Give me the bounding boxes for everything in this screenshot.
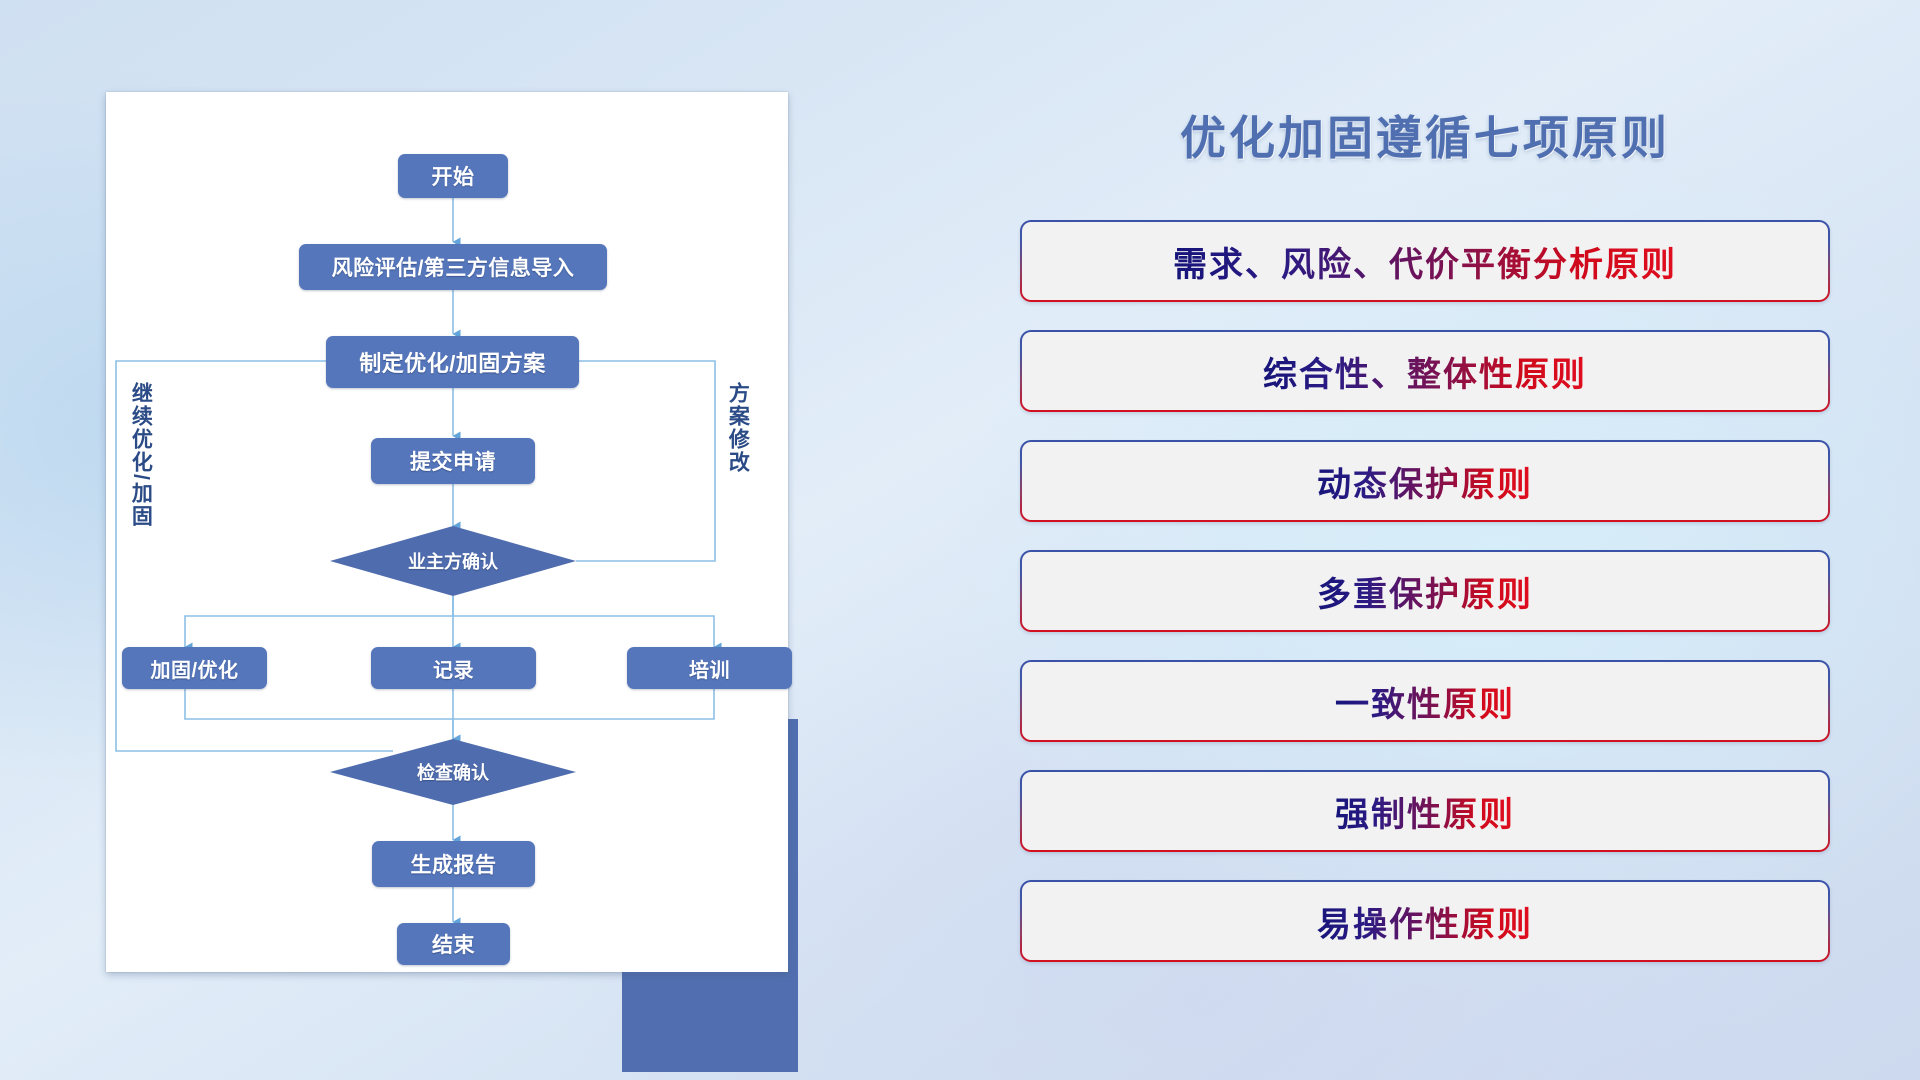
- principles-panel: 优化加固遵循七项原则 需求、风险、代价平衡分析原则 综合性、整体性原则 动态保护…: [1020, 92, 1830, 992]
- principle-label: 综合性、整体性原则: [1263, 347, 1587, 396]
- flowchart-panel: 开始 风险评估/第三方信息导入 制定优化/加固方案 提交申请 业主方确认 加固/…: [106, 92, 788, 972]
- flow-node-record-label: 记录: [433, 654, 474, 683]
- flow-edge-label-continue-optimize: 继续优化/加固: [130, 382, 151, 528]
- flow-edge-label-plan-revision: 方案修改: [727, 382, 748, 474]
- flow-node-end[interactable]: 结束: [397, 923, 510, 965]
- principle-label: 一致性原则: [1335, 677, 1515, 726]
- flow-node-start-label: 开始: [432, 161, 475, 191]
- flow-node-reinforce[interactable]: 加固/优化: [122, 647, 267, 689]
- flow-node-training-label: 培训: [689, 654, 730, 683]
- flow-node-risk-assessment-label: 风险评估/第三方信息导入: [332, 252, 575, 282]
- principles-card-list: 需求、风险、代价平衡分析原则 综合性、整体性原则 动态保护原则 多重保护原则 一…: [1020, 220, 1830, 990]
- flowchart-sheet: 开始 风险评估/第三方信息导入 制定优化/加固方案 提交申请 业主方确认 加固/…: [106, 92, 788, 972]
- principle-card[interactable]: 强制性原则: [1020, 770, 1830, 852]
- flow-node-report[interactable]: 生成报告: [372, 841, 535, 887]
- flow-decision-owner-confirm-label: 业主方确认: [408, 548, 498, 574]
- flow-node-submit-label: 提交申请: [410, 446, 496, 476]
- principle-label: 需求、风险、代价平衡分析原则: [1173, 237, 1677, 286]
- principle-card[interactable]: 易操作性原则: [1020, 880, 1830, 962]
- flow-node-start[interactable]: 开始: [398, 154, 508, 198]
- principle-label: 动态保护原则: [1317, 457, 1533, 506]
- flow-decision-check-confirm-label: 检查确认: [417, 759, 489, 785]
- principle-label: 强制性原则: [1335, 787, 1515, 836]
- flow-node-end-label: 结束: [432, 929, 475, 959]
- flow-node-record[interactable]: 记录: [371, 647, 536, 689]
- flow-node-submit[interactable]: 提交申请: [371, 438, 535, 484]
- principle-card[interactable]: 一致性原则: [1020, 660, 1830, 742]
- principle-card[interactable]: 多重保护原则: [1020, 550, 1830, 632]
- flow-node-plan-label: 制定优化/加固方案: [359, 346, 546, 378]
- flow-node-plan[interactable]: 制定优化/加固方案: [326, 336, 579, 388]
- principle-card[interactable]: 需求、风险、代价平衡分析原则: [1020, 220, 1830, 302]
- principle-label: 易操作性原则: [1317, 897, 1533, 946]
- principle-label: 多重保护原则: [1317, 567, 1533, 616]
- principle-card[interactable]: 动态保护原则: [1020, 440, 1830, 522]
- flow-node-reinforce-label: 加固/优化: [150, 654, 238, 683]
- principle-card[interactable]: 综合性、整体性原则: [1020, 330, 1830, 412]
- flow-node-report-label: 生成报告: [411, 849, 497, 879]
- flow-node-training[interactable]: 培训: [627, 647, 792, 689]
- page-title: 优化加固遵循七项原则: [1020, 102, 1830, 168]
- flow-node-risk-assessment[interactable]: 风险评估/第三方信息导入: [299, 244, 607, 290]
